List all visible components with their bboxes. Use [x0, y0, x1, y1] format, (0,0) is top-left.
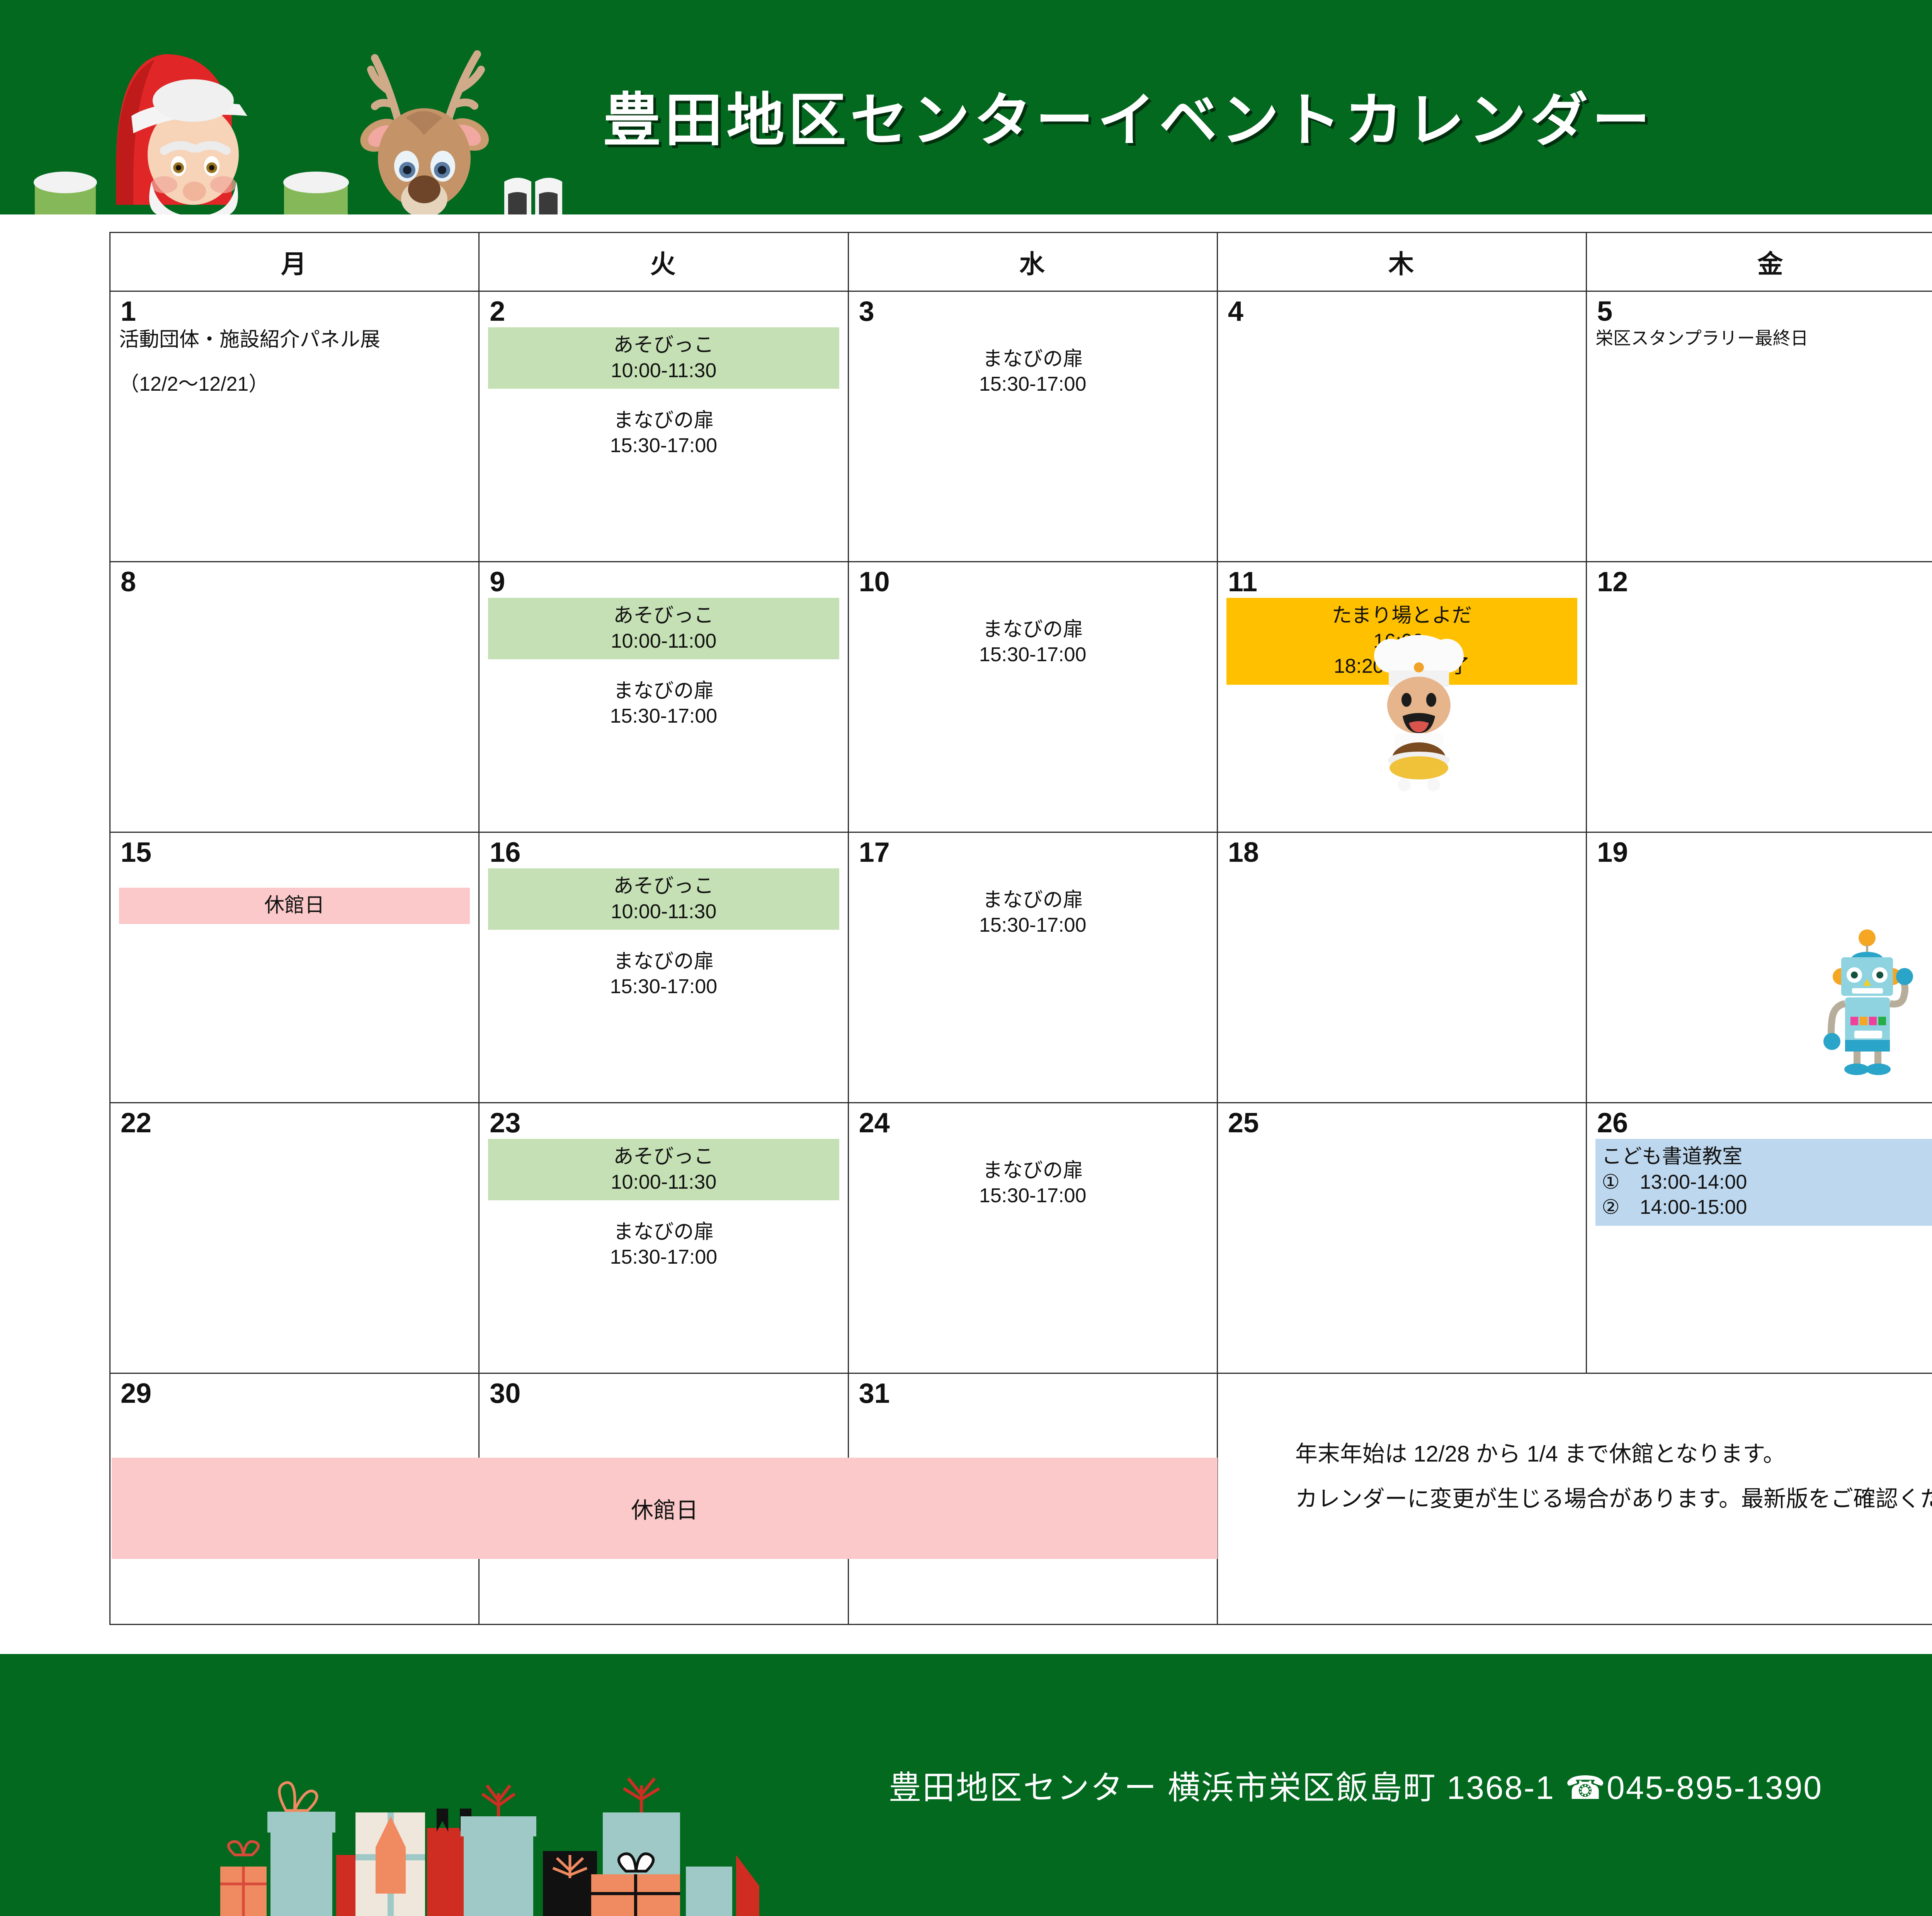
day-number: 4	[1228, 296, 1243, 327]
calendar-day-cell[interactable]: 25	[1217, 1103, 1586, 1373]
event-text: （12/2～12/21）	[119, 372, 470, 397]
day-events: 活動団体・施設紹介パネル展（12/2～12/21）	[111, 327, 478, 561]
event-chip: たまり場とよだ 16:00- 18:20 受付終了	[1226, 598, 1577, 685]
calendar-day-cell[interactable]: 19	[1587, 832, 1932, 1103]
day-number: 10	[859, 567, 890, 597]
day-events: まなびの扉 15:30-17:00	[849, 1139, 1217, 1373]
calendar-notes-cell: 年末年始は 12/28 から 1/4 まで休館となります。カレンダーに変更が生じ…	[1217, 1373, 1932, 1625]
weekday-header-thu: 木	[1217, 233, 1586, 291]
day-number: 22	[121, 1108, 151, 1138]
event-text: まなびの扉 15:30-17:00	[857, 617, 1208, 667]
calendar-week-row: 2223あそびっこ 10:00-11:30まなびの扉 15:30-17:0024…	[110, 1103, 1932, 1373]
calendar-day-cell[interactable]: 10まなびの扉 15:30-17:00	[848, 562, 1217, 832]
day-events	[111, 1139, 478, 1373]
calendar-day-cell[interactable]: 17まなびの扉 15:30-17:00	[848, 832, 1217, 1103]
day-number: 19	[1597, 837, 1628, 868]
day-number: 31	[859, 1378, 890, 1409]
calendar-day-cell[interactable]: 9あそびっこ 10:00-11:00まなびの扉 15:30-17:00	[479, 562, 848, 832]
day-events: まなびの扉 15:30-17:00	[849, 327, 1217, 561]
calendar-last-week-row: 29休館日3031年末年始は 12/28 から 1/4 まで休館となります。カレ…	[110, 1373, 1932, 1625]
day-events: あそびっこ 10:00-11:00まなびの扉 15:30-17:00	[480, 598, 847, 832]
note-line: カレンダーに変更が生じる場合があります。最新版をご確認ください。	[1295, 1477, 1932, 1521]
closed-days-label: 休館日	[631, 1492, 698, 1525]
day-number: 8	[121, 567, 136, 597]
day-events: まなびの扉 15:30-17:00	[849, 868, 1217, 1102]
day-number: 3	[859, 296, 874, 327]
calendar-day-cell[interactable]: 16あそびっこ 10:00-11:30まなびの扉 15:30-17:00	[479, 832, 848, 1103]
event-chip-asobikko: あそびっこ 10:00-11:30	[488, 327, 839, 389]
day-events: あそびっこ 10:00-11:30まなびの扉 15:30-17:00	[480, 327, 847, 561]
event-text: まなびの扉 15:30-17:00	[488, 1220, 839, 1270]
calendar-day-cell[interactable]: 24まなびの扉 15:30-17:00	[848, 1103, 1217, 1373]
event-chip-asobikko: あそびっこ 10:00-11:30	[488, 868, 839, 930]
event-text: まなびの扉 15:30-17:00	[857, 1158, 1208, 1208]
day-events: あそびっこ 10:00-11:30まなびの扉 15:30-17:00	[480, 868, 847, 1102]
calendar-day-cell[interactable]: 11たまり場とよだ 16:00- 18:20 受付終了	[1217, 562, 1586, 832]
day-number: 18	[1228, 837, 1259, 868]
calendar-day-cell[interactable]: 1活動団体・施設紹介パネル展（12/2～12/21）	[110, 291, 479, 562]
day-number: 25	[1228, 1108, 1259, 1138]
calendar-week-row: 89あそびっこ 10:00-11:00まなびの扉 15:30-17:0010まな…	[110, 562, 1932, 832]
calendar-day-cell[interactable]: 5栄区スタンプラリー最終日	[1587, 291, 1932, 562]
day-events: こども書道教室 ① 13:00-14:00 ② 14:00-15:00	[1587, 1139, 1932, 1373]
calendar-day-cell[interactable]: 8	[110, 562, 479, 832]
calendar-week-row: 15休館日16あそびっこ 10:00-11:30まなびの扉 15:30-17:0…	[110, 832, 1932, 1103]
day-number: 16	[490, 837, 520, 868]
calendar-day-cell[interactable]: 29休館日	[110, 1373, 479, 1625]
day-events: たまり場とよだ 16:00- 18:20 受付終了	[1218, 598, 1586, 832]
day-number: 2	[490, 296, 505, 327]
page-footer: 豊田地区センター 横浜市栄区飯島町 1368-1 ☎045-895-1390 豊…	[0, 1654, 1932, 1916]
page-title: 豊田地区センターイベントカレンダー	[603, 73, 1654, 157]
day-number: 29	[121, 1378, 151, 1409]
calendar-day-cell[interactable]: 12	[1587, 562, 1932, 832]
day-number: 23	[490, 1108, 520, 1138]
calendar-day-cell[interactable]: 23あそびっこ 10:00-11:30まなびの扉 15:30-17:00	[479, 1103, 848, 1373]
day-events	[1218, 327, 1586, 561]
day-number: 24	[859, 1108, 890, 1138]
day-number: 1	[121, 296, 136, 327]
event-text: 活動団体・施設紹介パネル展	[119, 327, 470, 352]
day-events	[1218, 868, 1586, 1102]
weekday-header-fri: 金	[1587, 233, 1932, 291]
calendar-grid: 月 火 水 木 金 土 日 1活動団体・施設紹介パネル展（12/2～12/21）…	[109, 232, 1932, 1654]
day-events	[1587, 868, 1932, 1102]
day-number: 11	[1228, 567, 1257, 597]
calendar-day-cell[interactable]: 3まなびの扉 15:30-17:00	[848, 291, 1217, 562]
weekday-header-row: 月 火 水 木 金 土 日	[110, 233, 1932, 291]
day-number: 5	[1597, 296, 1612, 327]
calendar-day-cell[interactable]: 2あそびっこ 10:00-11:30まなびの扉 15:30-17:00	[479, 291, 848, 562]
day-number: 9	[490, 567, 505, 597]
day-events	[111, 598, 478, 832]
calendar-day-cell[interactable]: 22	[110, 1103, 479, 1373]
day-events	[1587, 598, 1932, 832]
event-text: まなびの扉 15:30-17:00	[857, 347, 1208, 397]
santa-reindeer-decoration	[0, 0, 580, 214]
calendar-table: 月 火 水 木 金 土 日 1活動団体・施設紹介パネル展（12/2～12/21）…	[109, 232, 1932, 1625]
day-events: まなびの扉 15:30-17:00	[849, 598, 1217, 832]
day-number: 15	[121, 837, 151, 868]
day-events: あそびっこ 10:00-11:30まなびの扉 15:30-17:00	[480, 1139, 847, 1373]
calendar-body: 1活動団体・施設紹介パネル展（12/2～12/21）2あそびっこ 10:00-1…	[110, 291, 1932, 1625]
weekday-header-tue: 火	[479, 233, 848, 291]
closing-notice-chip: 休館日	[119, 888, 470, 924]
calendar-day-cell[interactable]: 18	[1217, 832, 1586, 1103]
event-chip: こども書道教室 ① 13:00-14:00 ② 14:00-15:00	[1595, 1139, 1932, 1226]
day-number: 26	[1597, 1108, 1628, 1138]
closed-days-banner: 休館日	[112, 1458, 1218, 1559]
calendar-week-row: 1活動団体・施設紹介パネル展（12/2～12/21）2あそびっこ 10:00-1…	[110, 291, 1932, 562]
calendar-day-cell[interactable]: 26こども書道教室 ① 13:00-14:00 ② 14:00-15:00	[1587, 1103, 1932, 1373]
weekday-header-wed: 水	[848, 233, 1217, 291]
event-text: 栄区スタンプラリー最終日	[1595, 327, 1932, 350]
weekday-header-mon: 月	[110, 233, 479, 291]
footer-contact: 豊田地区センター 横浜市栄区飯島町 1368-1 ☎045-895-1390	[0, 1654, 1932, 1916]
day-events: 栄区スタンプラリー最終日	[1587, 327, 1932, 561]
event-text: まなびの扉 15:30-17:00	[857, 888, 1208, 938]
day-number: 30	[490, 1378, 520, 1409]
calendar-day-cell[interactable]: 4	[1217, 291, 1586, 562]
note-line: 年末年始は 12/28 から 1/4 まで休館となります。	[1295, 1432, 1932, 1477]
calendar-page: 豊田地区センターイベントカレンダー ❄ ❄ ❄ ❄ 12	[0, 0, 1932, 1916]
event-text: まなびの扉 15:30-17:00	[488, 949, 839, 999]
day-events	[1218, 1139, 1586, 1373]
notes-block: 年末年始は 12/28 から 1/4 まで休館となります。カレンダーに変更が生じ…	[1218, 1374, 1932, 1624]
event-chip-asobikko: あそびっこ 10:00-11:00	[488, 598, 839, 659]
page-header: 豊田地区センターイベントカレンダー ❄ ❄ ❄ ❄ 12	[0, 0, 1932, 214]
day-events: 休館日	[111, 868, 478, 1102]
day-number: 17	[859, 837, 890, 868]
event-text: まなびの扉 15:30-17:00	[488, 679, 839, 729]
calendar-day-cell[interactable]: 15休館日	[110, 832, 479, 1103]
event-text: まなびの扉 15:30-17:00	[488, 408, 839, 458]
hoof-icon	[497, 158, 574, 214]
event-chip-asobikko: あそびっこ 10:00-11:30	[488, 1139, 839, 1200]
day-number: 12	[1597, 567, 1628, 597]
